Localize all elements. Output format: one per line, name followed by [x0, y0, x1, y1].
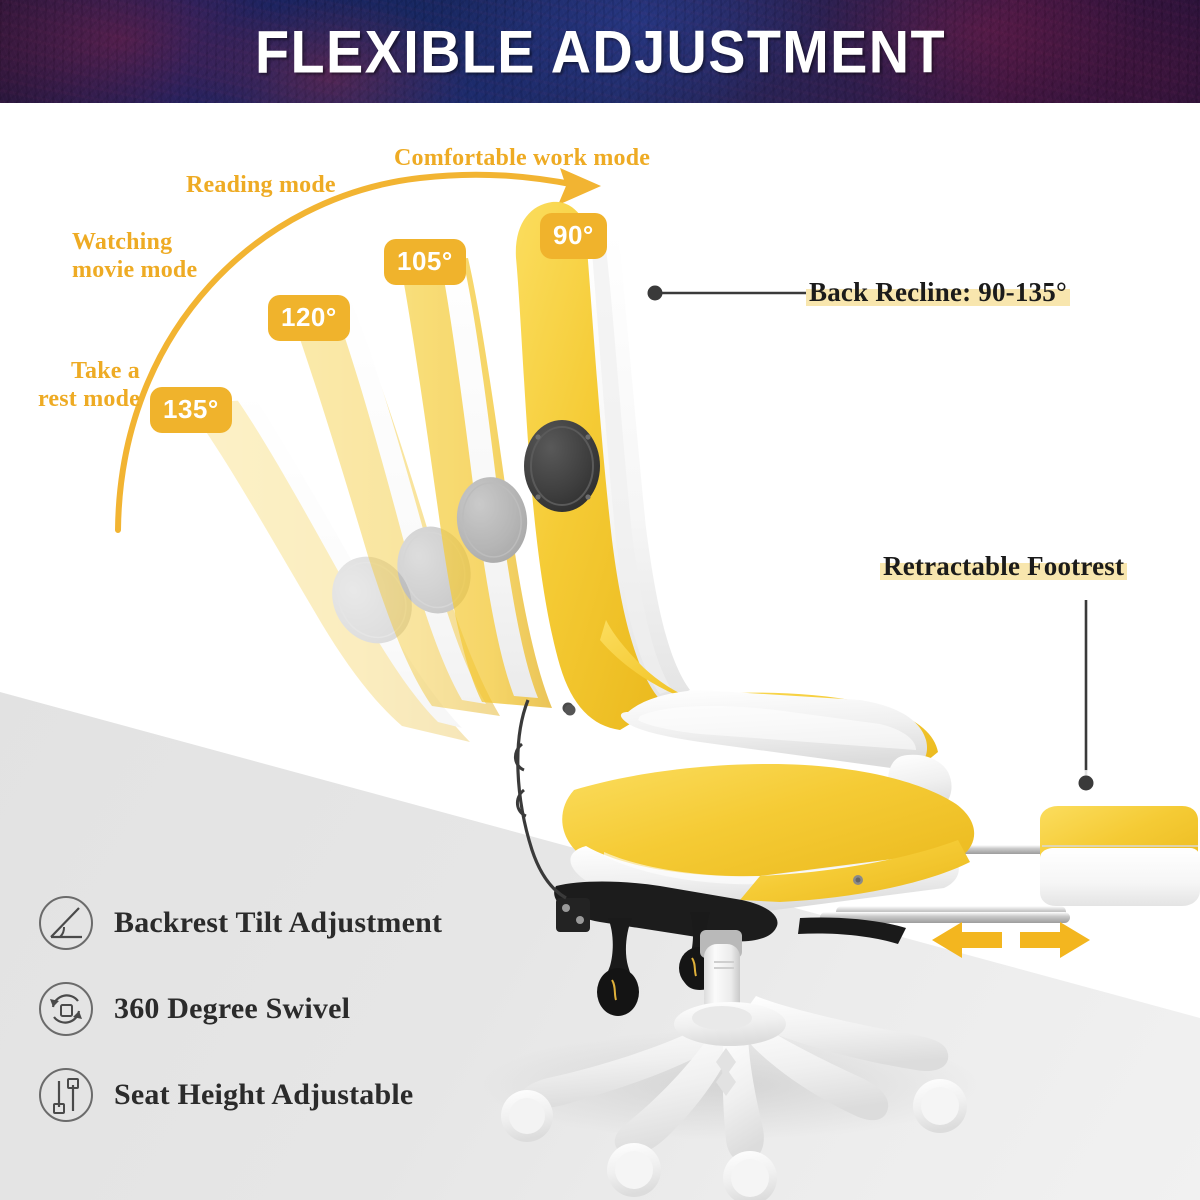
- angle-badge-90: 90°: [540, 213, 607, 259]
- mode-label-reading: Reading mode: [186, 171, 406, 199]
- callout-back-recline-label: Back Recline: 90-135°: [806, 277, 1070, 308]
- mode-label-take-a-rest: Take a rest mode: [20, 357, 140, 414]
- angle-badge-120: 120°: [268, 295, 350, 341]
- feature-seat-height-label: Seat Height Adjustable: [114, 1078, 413, 1112]
- arrow-left-icon: [932, 922, 1002, 958]
- callout-back-recline: Back Recline: 90-135°: [806, 277, 1070, 308]
- seat-height-icon: [38, 1067, 94, 1123]
- footrest-extension-arrows: [932, 922, 1090, 958]
- back-recline-leader: [640, 278, 820, 312]
- feature-backrest-tilt: Backrest Tilt Adjustment: [38, 880, 598, 966]
- mode-label-watching-movie: Watching movie mode: [72, 228, 272, 285]
- backrest-tilt-icon: [38, 895, 94, 951]
- callout-retractable-footrest-label: Retractable Footrest: [880, 551, 1127, 582]
- feature-360-swivel-label: 360 Degree Swivel: [114, 992, 350, 1026]
- angle-badge-105: 105°: [384, 239, 466, 285]
- leader-dot: [1079, 776, 1094, 791]
- feature-backrest-tilt-label: Backrest Tilt Adjustment: [114, 906, 442, 940]
- callout-retractable-footrest: Retractable Footrest: [880, 551, 1127, 582]
- feature-seat-height: Seat Height Adjustable: [38, 1052, 598, 1138]
- arrow-right-icon: [1020, 922, 1090, 958]
- infographic-canvas: FLEXIBLE ADJUSTMENT: [0, 0, 1200, 1200]
- mode-label-comfortable-work: Comfortable work mode: [394, 144, 714, 172]
- swivel-360-icon: [38, 981, 94, 1037]
- retractable-footrest-leader: [1070, 598, 1104, 798]
- leader-dot: [648, 286, 663, 301]
- feature-list: Backrest Tilt Adjustment 360 Degree Swiv…: [38, 880, 598, 1138]
- feature-360-swivel: 360 Degree Swivel: [38, 966, 598, 1052]
- angle-badge-135: 135°: [150, 387, 232, 433]
